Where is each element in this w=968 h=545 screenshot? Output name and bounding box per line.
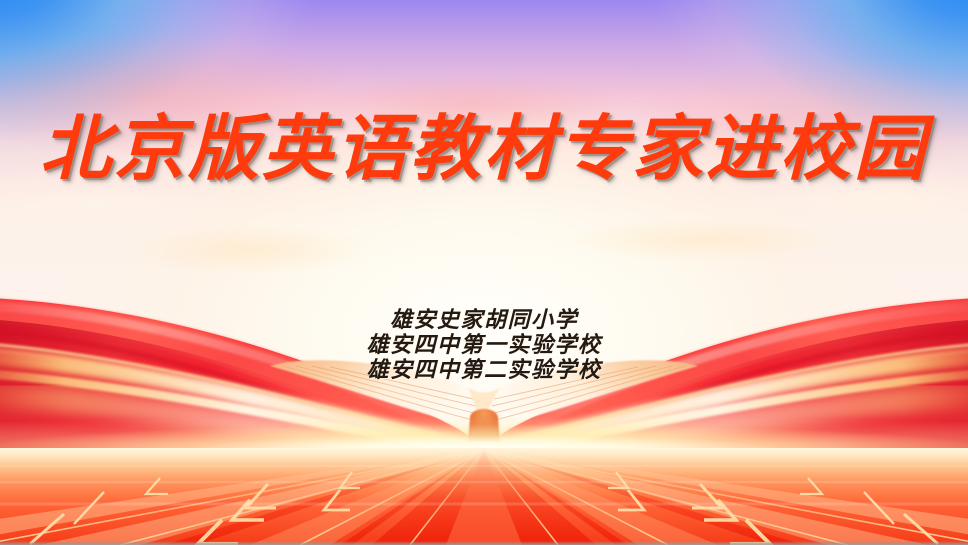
page-title: 北京版英语教材专家进校园 [0, 106, 968, 190]
bottom-edge-strip [0, 541, 968, 545]
school-list: 雄安史家胡同小学 雄安四中第一实验学校 雄安四中第二实验学校 [0, 308, 968, 383]
slide-canvas: 北京版英语教材专家进校园 雄安史家胡同小学 雄安四中第一实验学校 雄安四中第二实… [0, 0, 968, 545]
school-name-line-2: 雄安四中第一实验学校 [0, 333, 968, 358]
school-name-line-3: 雄安四中第二实验学校 [0, 358, 968, 383]
perspective-floor [0, 448, 968, 545]
school-name-line-1: 雄安史家胡同小学 [0, 308, 968, 333]
